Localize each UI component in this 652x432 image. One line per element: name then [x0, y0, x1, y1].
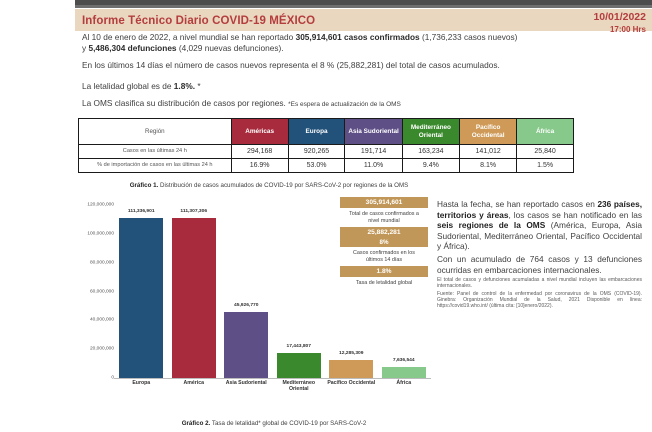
table-row: Casos en las últimas 24 h 294,168 920,26…	[79, 145, 574, 159]
table-cell: 9.4%	[402, 159, 459, 173]
table-cell: 294,168	[231, 145, 288, 159]
intro-paragraph-14-days: En los últimos 14 días el número de caso…	[82, 60, 642, 71]
chart1-bar: 12,285,309	[329, 360, 373, 378]
table-cell: 191,714	[345, 145, 402, 159]
report-date: 10/01/2022	[593, 11, 646, 23]
intro-p1-text-f: (4,029 nuevas defunciones).	[177, 43, 284, 53]
table-cell: 141,012	[460, 145, 517, 159]
chart1-bar-fill	[172, 218, 216, 378]
chart2-caption: Gráfico 2. Tasa de letalidad* global de …	[104, 420, 444, 427]
side-note-ships: El total de casos y defunciones acumulad…	[437, 277, 642, 289]
table-cell: 920,265	[288, 145, 345, 159]
side-p1-c: , los casos se han notificado en las	[508, 210, 642, 220]
chart1-bar: 111,336,901	[119, 218, 163, 379]
intro-paragraph-who-regions: La OMS clasifica su distribución de caso…	[82, 98, 642, 110]
intro-paragraph-global-cases: Al 10 de enero de 2022, a nivel mundial …	[82, 32, 642, 54]
chart1-y-tick-label: 20,000,000	[90, 347, 114, 352]
table-cell: 11.0%	[345, 159, 402, 173]
intro-deaths: 5,486,304 defunciones	[88, 43, 176, 53]
table-row-label-cases-24h: Casos en las últimas 24 h	[79, 145, 232, 159]
table-col-mediterraneo-oriental: Mediterráneo Oriental	[402, 119, 459, 145]
chart1-bar: 17,443,807	[277, 353, 321, 378]
lethality-value: 1.8%.	[174, 81, 195, 91]
chart1-y-tick-label: 80,000,000	[90, 260, 114, 265]
chart2-caption-prefix: Gráfico 2.	[182, 420, 211, 427]
chart1-bar-fill	[119, 218, 163, 379]
table-col-asia-sudoriental: Asia Sudoriental	[345, 119, 402, 145]
chart1-bar-value-label: 111,336,901	[128, 209, 155, 214]
side-paragraph-ships: Con un acumulado de 764 casos y 13 defun…	[437, 254, 642, 275]
lethality-asterisk: *	[195, 81, 201, 91]
chart1-y-tick-label: 40,000,000	[90, 318, 114, 323]
chart1-caption-prefix: Gráfico 1.	[130, 182, 159, 189]
callout-lethality-caption: Tasa de letalidad global	[340, 277, 428, 290]
callout-14day-cases-value: 25,882,281	[340, 227, 428, 238]
who-update-note: *Es espera de actualización de la OMS	[288, 101, 401, 108]
chart1-bar: 45,926,770	[224, 312, 268, 378]
table-cell: 25,840	[517, 145, 574, 159]
chart1-bar-value-label: 111,307,306	[180, 209, 207, 214]
chart1-bar-value-label: 7,636,544	[393, 358, 415, 363]
callout-14day-cases-caption: Casos confirmados en los últimos 14 días	[340, 247, 428, 266]
intro-p1-text-a: Al 10 de enero de 2022, a nivel mundial …	[82, 32, 296, 42]
table-col-pacifico-occidental: Pacífico Occidental	[460, 119, 517, 145]
table-row: % de importación de casos en las últimas…	[79, 159, 574, 173]
chart1-x-tick-label: América	[168, 380, 221, 386]
chart1-x-tick-label: Mediterráneo Oriental	[273, 380, 326, 392]
side-six-regions: seis regiones de la OMS	[437, 220, 545, 230]
callout-total-cases-value: 305,914,601	[340, 197, 428, 208]
chart1-bar-fill	[382, 367, 426, 378]
chart1-bar-fill	[224, 312, 268, 378]
chart1-x-tick-label: Pacífico Occidental	[325, 380, 378, 386]
table-cell: 1.5%	[517, 159, 574, 173]
page-title: Informe Técnico Diario COVID-19 MÉXICO	[82, 15, 412, 27]
intro-p1-text-c: (1,736,233 casos nuevos)	[420, 32, 518, 42]
side-paragraph-regions: Hasta la fecha, se han reportado casos e…	[437, 199, 642, 252]
side-source-note: Fuente: Panel de control de la enfermeda…	[437, 291, 642, 309]
side-p1-a: Hasta la fecha, se han reportado casos e…	[437, 199, 597, 209]
chart1-bar: 7,636,544	[382, 367, 426, 378]
chart1-x-tick-label: África	[378, 380, 431, 386]
lethality-text-a: La letalidad global es de	[82, 81, 174, 91]
chart1-bar-fill	[277, 353, 321, 378]
callout-stack: 305,914,601 Total de casos confirmados a…	[340, 197, 428, 290]
regions-table: Región Américas Europa Asia Sudoriental …	[78, 118, 574, 173]
chart1-y-tick-label: 120,000,000	[87, 203, 114, 208]
table-header-row: Región Américas Europa Asia Sudoriental …	[79, 119, 574, 145]
chart1-bar: 111,307,306	[172, 218, 216, 378]
table-cell: 16.9%	[231, 159, 288, 173]
table-cell: 8.1%	[460, 159, 517, 173]
side-text-column: Hasta la fecha, se han reportado casos e…	[437, 199, 642, 309]
chart1-bar-fill	[329, 360, 373, 378]
chart1-y-tick-label: 60,000,000	[90, 289, 114, 294]
table-row-label-pct-24h: % de importación de casos en las últimas…	[79, 159, 232, 173]
chart1-y-tick-label: 100,000,000	[87, 231, 114, 236]
intro-confirmed-cases: 305,914,601 casos confirmados	[296, 32, 420, 42]
table-cell: 53.0%	[288, 159, 345, 173]
chart1-x-tick-label: Asia Sudoriental	[220, 380, 273, 386]
chart1-y-axis: 020,000,00040,000,00060,000,00080,000,00…	[78, 200, 114, 383]
callout-lethality-value: 1.8%	[340, 266, 428, 277]
chart1-bar-value-label: 45,926,770	[234, 303, 258, 308]
table-col-africa: África	[517, 119, 574, 145]
callout-14day-cases-percent: 8%	[340, 238, 428, 247]
chart1-bar-value-label: 12,285,309	[339, 351, 363, 356]
chart1-caption: Gráfico 1. Distribución de casos acumula…	[104, 182, 434, 190]
who-regions-text: La OMS clasifica su distribución de caso…	[82, 98, 288, 108]
table-cell: 163,234	[402, 145, 459, 159]
intro-paragraph-lethality: La letalidad global es de 1.8%. *	[82, 81, 642, 92]
chart1-x-axis-line	[114, 378, 431, 379]
chart2-caption-text: Tasa de letalidad* global de COVID-19 po…	[210, 420, 366, 427]
chart1-bar-value-label: 17,443,807	[287, 344, 311, 349]
callout-total-cases-caption: Total de casos confirmados a nivel mundi…	[340, 208, 428, 227]
top-decorative-strip-shadow	[75, 5, 652, 8]
chart1-caption-text: Distribución de casos acumulados de COVI…	[158, 182, 408, 189]
table-col-americas: Américas	[231, 119, 288, 145]
table-col-europa: Europa	[288, 119, 345, 145]
table-corner-label: Región	[79, 119, 232, 145]
chart1-x-tick-label: Europa	[115, 380, 168, 386]
